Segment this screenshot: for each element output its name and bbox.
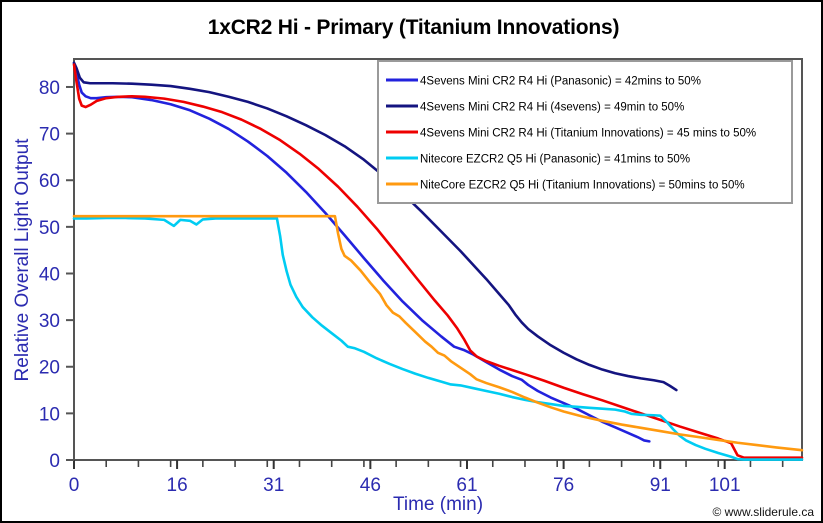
x-tick-label: 16 — [167, 475, 188, 496]
y-tick-label: 70 — [39, 125, 60, 146]
series-line-3 — [74, 218, 802, 460]
y-tick-label: 80 — [39, 78, 60, 99]
y-tick-label: 30 — [39, 311, 60, 332]
x-tick-label: 61 — [456, 475, 477, 496]
x-tick-label: 0 — [69, 475, 80, 496]
legend-label-2: 4Sevens Mini CR2 R4 Hi (Titanium Innovat… — [420, 128, 756, 140]
x-tick-label: 101 — [709, 475, 741, 496]
x-tick-label: 31 — [263, 475, 284, 496]
legend: 4Sevens Mini CR2 R4 Hi (Panasonic) = 42m… — [378, 61, 792, 203]
x-tick-label: 46 — [360, 475, 381, 496]
legend-label-0: 4Sevens Mini CR2 R4 Hi (Panasonic) = 42m… — [420, 76, 701, 88]
y-tick-label: 40 — [39, 264, 60, 285]
watermark: © www.sliderule.ca — [712, 505, 814, 519]
y-tick-label: 50 — [39, 218, 60, 239]
x-tick-label: 76 — [553, 475, 574, 496]
y-axis-title: Relative Overall Light Output — [12, 138, 33, 382]
y-tick-label: 0 — [49, 451, 60, 472]
x-axis-title: Time (min) — [393, 494, 483, 515]
legend-label-3: Nitecore EZCR2 Q5 Hi (Panasonic) = 41min… — [420, 154, 690, 166]
legend-label-4: NiteCore EZCR2 Q5 Hi (Titanium Innovatio… — [420, 180, 745, 192]
y-tick-label: 10 — [39, 404, 60, 425]
legend-label-1: 4Sevens Mini CR2 R4 Hi (4sevens) = 49min… — [420, 102, 684, 114]
y-tick-label: 60 — [39, 171, 60, 192]
x-tick-label: 91 — [650, 475, 671, 496]
runtime-line-chart: 016314661769110101020304050607080 Relati… — [2, 2, 823, 523]
chart-canvas: 016314661769110101020304050607080 Relati… — [2, 2, 823, 523]
y-tick-label: 20 — [39, 358, 60, 379]
chart-page: 1xCR2 Hi - Primary (Titanium Innovations… — [0, 0, 823, 523]
